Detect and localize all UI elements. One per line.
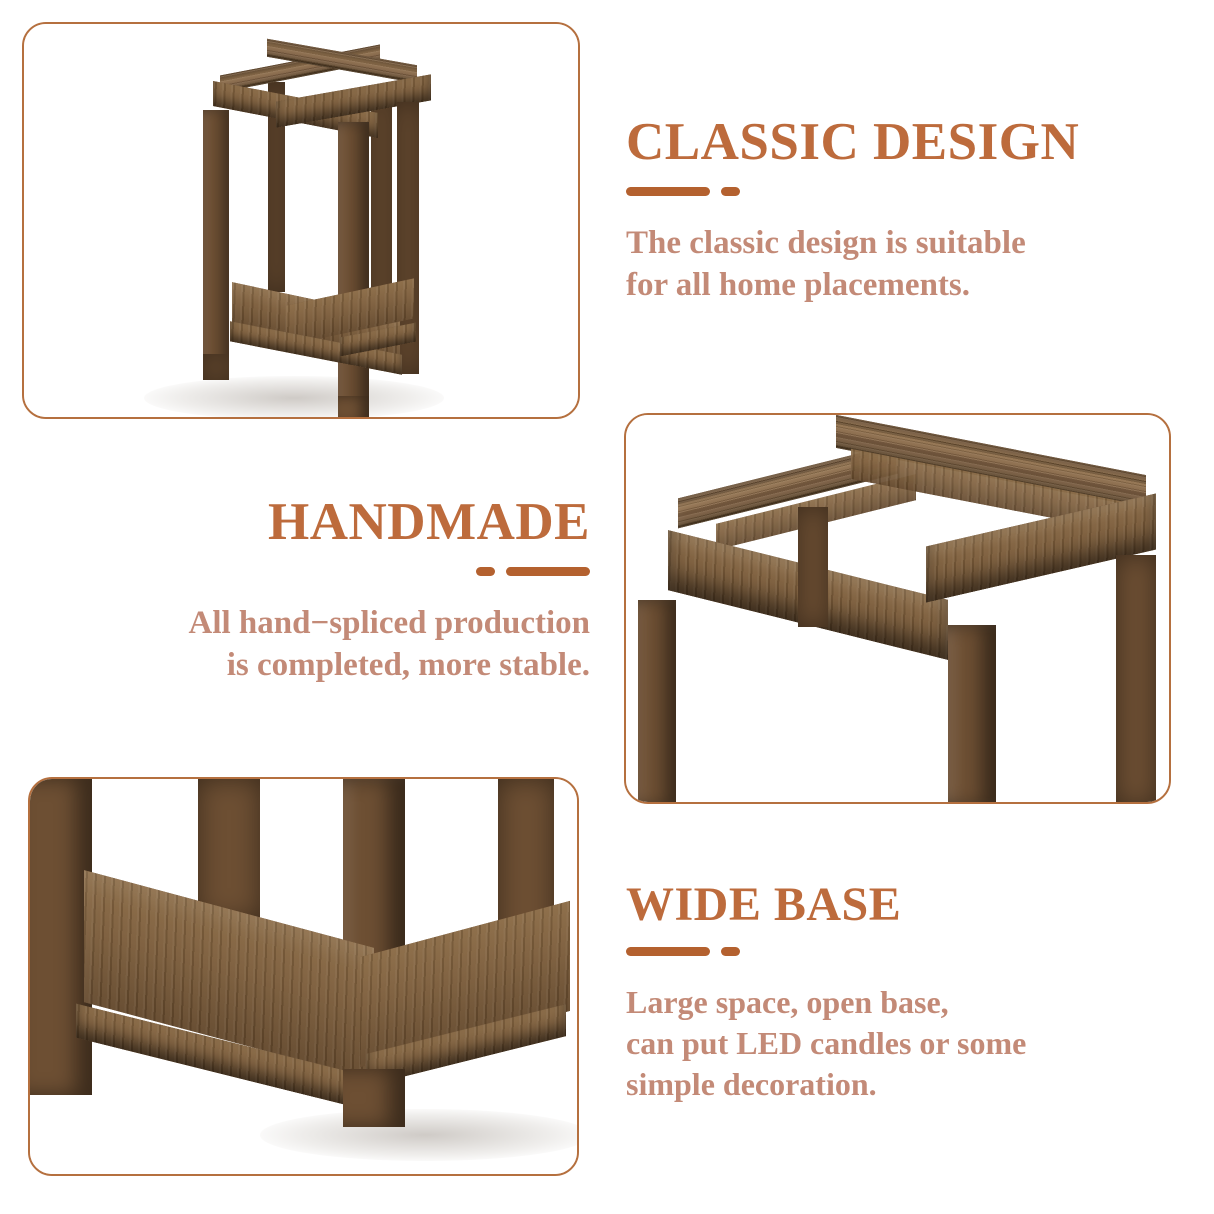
feature-body-line: can put LED candles or some [626,1023,1166,1064]
table-foot-left [203,354,229,380]
photo-frame-handmade [624,413,1171,804]
feature-heading-wide-base: WIDE BASE [626,880,1166,930]
table-leg-front-left [203,110,229,378]
shelf-leg-left [30,779,92,1095]
divider-accent-handmade [20,567,590,576]
divider-bar [626,187,710,196]
closeup-post-back [798,507,828,627]
feature-block-handmade: HANDMADE All hand−spliced production is … [20,495,590,687]
divider-dash [476,567,495,576]
shelf-floor-shadow [260,1109,579,1161]
feature-block-classic-design: CLASSIC DESIGN The classic design is sui… [626,115,1146,307]
table-foot-center [338,396,369,419]
feature-body-line: Large space, open base, [626,982,1166,1023]
photo-lower-shelf-closeup [30,779,577,1174]
feature-body-line: All hand−spliced production [20,602,590,644]
closeup-post-right [1116,555,1156,804]
feature-heading-classic-design: CLASSIC DESIGN [626,115,1146,170]
shelf-foot-center [343,1069,405,1127]
divider-accent-wide-base [626,947,1166,956]
feature-heading-handmade: HANDMADE [20,495,590,550]
divider-dash [721,947,740,956]
divider-accent-classic-design [626,187,1146,196]
photo-frame-wide-base [28,777,579,1176]
feature-body-line: simple decoration. [626,1064,1166,1105]
feature-body-classic-design: The classic design is suitable for all h… [626,222,1146,306]
photo-top-frame-closeup [626,415,1169,802]
feature-body-line: The classic design is suitable [626,222,1146,264]
feature-body-wide-base: Large space, open base, can put LED cand… [626,982,1166,1105]
divider-bar [506,567,590,576]
photo-frame-classic-design [22,22,580,419]
infographic-canvas: CLASSIC DESIGN The classic design is sui… [0,0,1214,1214]
feature-body-line: is completed, more stable. [20,644,590,686]
feature-block-wide-base: WIDE BASE Large space, open base, can pu… [626,880,1166,1105]
shelf-leg-back-left [198,779,260,919]
divider-bar [626,947,710,956]
divider-dash [721,187,740,196]
closeup-post-center [948,625,996,804]
table-leg-front-center [338,122,369,419]
feature-body-line: for all home placements. [626,264,1146,306]
closeup-post-left [638,600,676,804]
photo-full-table [24,24,578,417]
feature-body-handmade: All hand−spliced production is completed… [20,602,590,686]
floor-shadow [144,376,444,419]
